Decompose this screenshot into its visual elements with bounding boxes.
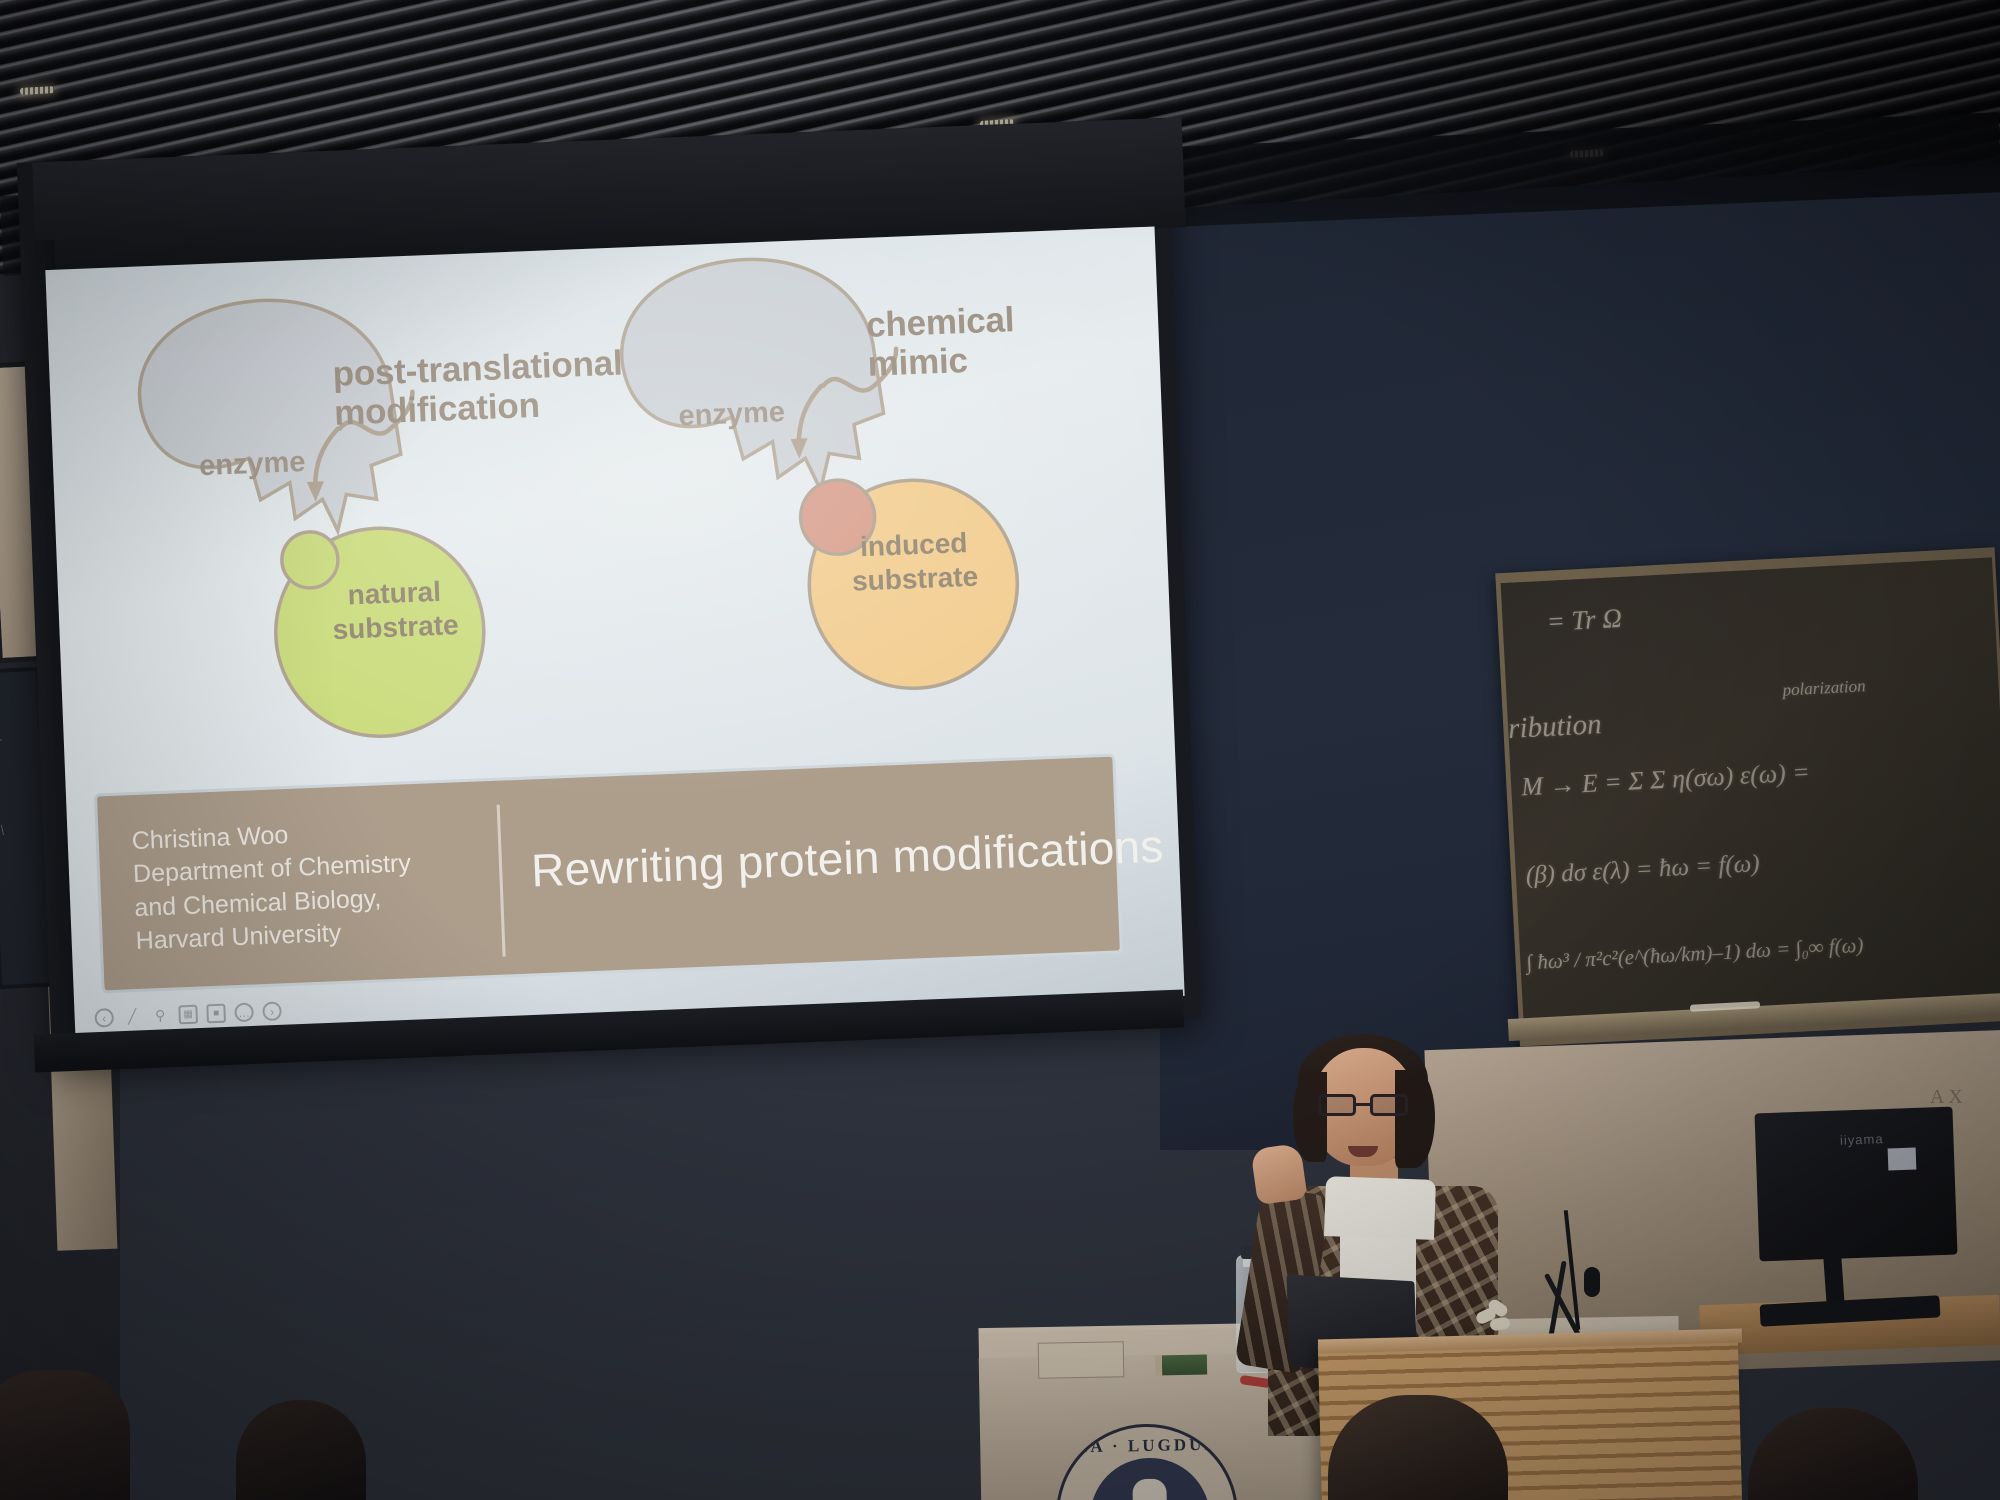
enzyme-label-right: enzyme — [678, 396, 786, 433]
presenter-affiliation: Christina Woo Department of Chemistry an… — [131, 812, 466, 958]
flower — [1474, 1300, 1516, 1336]
lecture-hall-photo: ⌐ \ = Tr Ω ribution polarization M → E =… — [0, 0, 2000, 1500]
projection-screen-surface: post-translational modification chemical… — [45, 227, 1184, 1040]
chalkboard-line: M → E = Σ Σ η(σω) ε(ω) = — [1520, 757, 1810, 802]
zoom-icon[interactable]: ⚲ — [150, 1006, 170, 1026]
chalkboard-line: polarization — [1782, 676, 1866, 700]
enzyme-shape-right — [618, 254, 886, 497]
glasses-lens-right — [1370, 1094, 1408, 1116]
substrate-line-2: substrate — [332, 609, 459, 645]
next-slide-icon[interactable]: › — [262, 1001, 282, 1021]
flower-petal — [1489, 1317, 1510, 1332]
caption-line-2: mimic — [867, 341, 969, 384]
presentation-slide: post-translational modification chemical… — [45, 227, 1184, 1040]
pen-icon[interactable]: ╱ — [122, 1007, 142, 1027]
all-slides-icon[interactable]: ▦ — [178, 1005, 198, 1025]
induced-substrate-label: induced substrate — [813, 524, 1015, 599]
monitor-brand-label: iiyama — [1840, 1131, 1884, 1148]
caption-line-2: modification — [333, 386, 540, 433]
glasses-lens-left — [1318, 1094, 1356, 1116]
substrate-line-2: substrate — [851, 560, 978, 596]
clear-container — [1038, 1341, 1125, 1378]
chalkboard: = Tr Ω ribution polarization M → E = Σ Σ… — [1501, 557, 2000, 1032]
presenter-toolbar[interactable]: ‹ ╱ ⚲ ▦ ■ … › — [94, 1001, 282, 1027]
microphone-head — [1584, 1267, 1600, 1297]
external-monitor — [1754, 1107, 1957, 1262]
speaker-collar — [1324, 1176, 1436, 1240]
seal-figure — [1132, 1479, 1167, 1500]
substrate-line-1: natural — [347, 576, 442, 611]
seal-text: MIA · LUGDUNO — [1058, 1434, 1240, 1457]
audience-head — [0, 1370, 130, 1500]
monitor-sticker — [1888, 1148, 1917, 1171]
chalkboard-line: = Tr Ω — [1546, 603, 1623, 638]
caption-line-1: chemical — [865, 300, 1015, 345]
enzyme-label-left: enzyme — [199, 446, 307, 483]
natural-substrate-label: natural substrate — [294, 573, 496, 648]
blackout-icon[interactable]: ■ — [206, 1004, 226, 1024]
more-options-icon[interactable]: … — [234, 1002, 254, 1022]
chalkboard-line: ribution — [1507, 708, 1602, 746]
chalkboard-line: (β) dσ ε(λ) = ħω = f(ω) — [1525, 850, 1760, 890]
chemical-mimic-caption: chemical mimic — [865, 300, 1016, 384]
post-translational-modification-caption: post-translational modification — [332, 344, 625, 434]
substrate-line-1: induced — [860, 527, 968, 562]
chalkboard-line: ∫ ħω³ / π²c²(e^(ħω/kт)–1) dω = ∫₀∞ f(ω) — [1526, 933, 1864, 976]
previous-slide-icon[interactable]: ‹ — [94, 1008, 114, 1028]
green-box — [1155, 1355, 1207, 1376]
wall-note: A X — [1930, 1086, 1963, 1109]
speaker-glasses — [1318, 1094, 1410, 1118]
glasses-bridge — [1356, 1103, 1370, 1106]
